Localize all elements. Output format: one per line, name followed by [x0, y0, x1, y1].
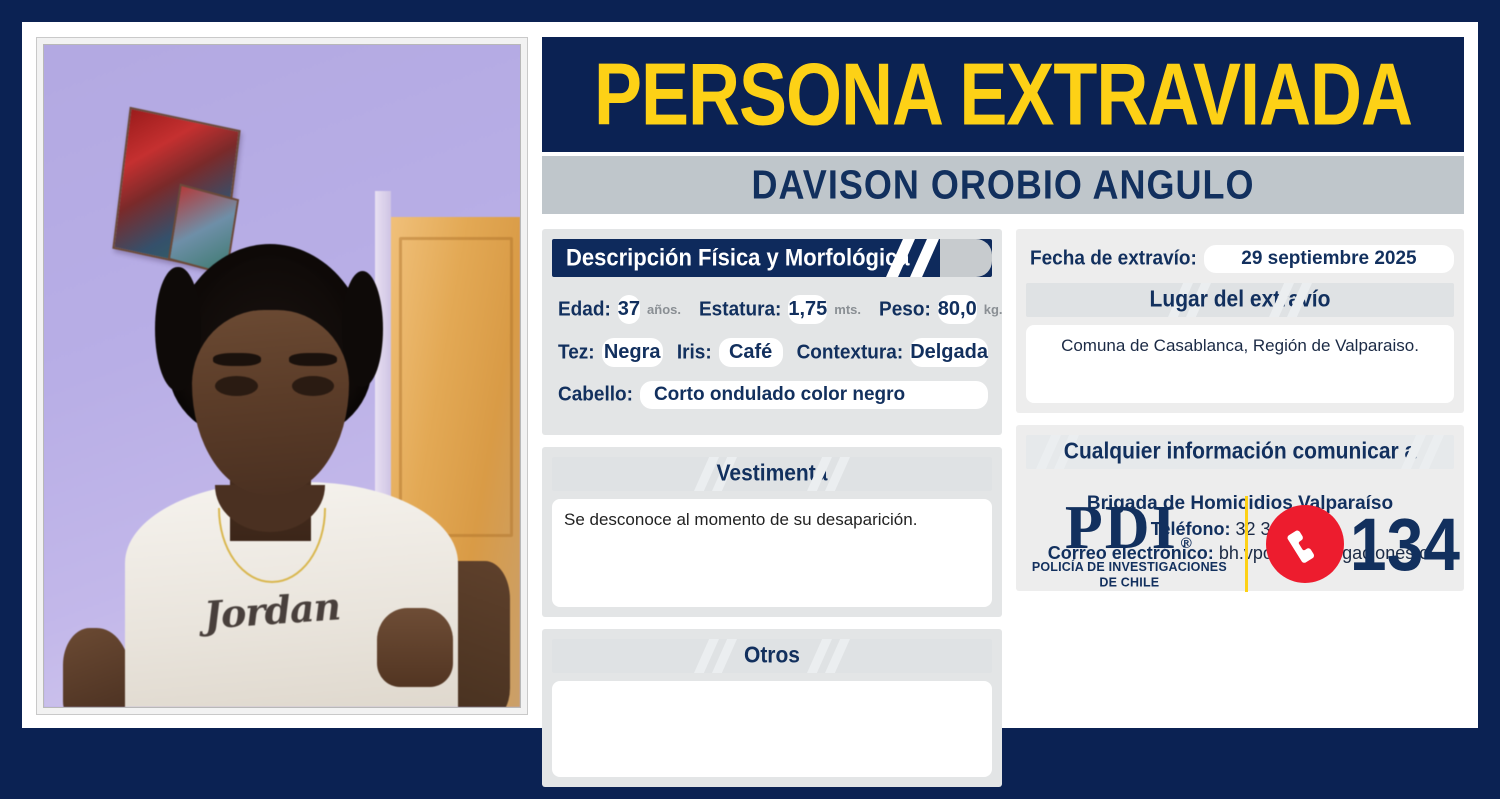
row-age-height-weight: Edad: 37 años. Estatura: 1,75 mts. Peso:… — [558, 295, 988, 324]
poster-content: PERSONA EXTRAVIADA DAVISON OROBIO ANGULO… — [542, 37, 1464, 715]
missing-person-photo: Jordan — [44, 45, 520, 707]
photo-eyebrow-right — [289, 353, 337, 366]
photo-eye-left — [215, 376, 258, 396]
edad-unit: años. — [647, 302, 681, 317]
edad-value: 37 — [618, 295, 640, 324]
physical-description-header-label: Descripción Física y Morfológica — [566, 244, 910, 273]
estatura-label: Estatura: — [699, 298, 781, 322]
vestimenta-value: Se desconoce al momento de su desaparici… — [552, 499, 992, 607]
photo-inner-border: Jordan — [43, 44, 521, 708]
registered-trademark-icon: ® — [1181, 537, 1194, 551]
physical-description-rows: Edad: 37 años. Estatura: 1,75 mts. Peso:… — [552, 277, 992, 425]
peso-unit: kg. — [984, 302, 1003, 317]
title-banner: PERSONA EXTRAVIADA — [542, 37, 1464, 152]
pdi-wordmark: PDI® — [1032, 499, 1227, 558]
otros-panel: Otros — [542, 629, 1002, 787]
physical-description-panel: Descripción Física y Morfológica Edad: 3… — [542, 229, 1002, 435]
header-cap-decor — [940, 239, 992, 277]
vestimenta-panel: Vestimenta Se desconoce al momento de su… — [542, 447, 1002, 617]
right-column: Fecha de extravío: 29 septiembre 2025 Lu… — [1016, 229, 1464, 603]
otros-header: Otros — [552, 639, 992, 673]
person-name: DAVISON OROBIO ANGULO — [751, 161, 1254, 209]
cabello-value: Corto ondulado color negro — [640, 381, 988, 409]
person-name-banner: DAVISON OROBIO ANGULO — [542, 156, 1464, 214]
iris-value: Café — [719, 338, 783, 367]
pdi-logo: PDI® POLICÍA DE INVESTIGACIONES DE CHILE — [1032, 499, 1227, 590]
peso-label: Peso: — [879, 298, 931, 322]
fecha-label: Fecha de extravío: — [1030, 247, 1197, 271]
fecha-value: 29 septiembre 2025 — [1204, 245, 1454, 273]
row-skin-iris-build: Tez: Negra Iris: Café Contextura: Delgad… — [558, 338, 988, 367]
pdi-logo-block: PDI® POLICÍA DE INVESTIGACIONES DE CHILE… — [1032, 485, 1460, 603]
photo-eyebrow-left — [213, 353, 261, 366]
cabello-label: Cabello: — [558, 383, 633, 407]
photo-frame: Jordan — [36, 37, 528, 715]
physical-description-header: Descripción Física y Morfológica — [552, 239, 992, 277]
contextura-label: Contextura: — [797, 341, 904, 365]
pdi-tagline-line1: POLICÍA DE INVESTIGACIONES — [1032, 559, 1227, 575]
photo-hand-right — [377, 608, 453, 687]
emergency-number: 134 — [1350, 502, 1460, 587]
logo-divider — [1245, 496, 1248, 592]
photo-eye-right — [292, 376, 335, 396]
contextura-value: Delgada — [910, 338, 988, 367]
missing-person-poster: Jordan PERSONA EXTRAVIADA DAVISON OROBIO… — [22, 22, 1478, 728]
edad-label: Edad: — [558, 298, 611, 322]
phone-icon — [1266, 505, 1344, 583]
pdi-tagline-line2: DE CHILE — [1032, 575, 1227, 591]
iris-label: Iris: — [677, 341, 712, 365]
otros-value — [552, 681, 992, 777]
estatura-value: 1,75 — [788, 295, 827, 324]
pdi-tagline: POLICÍA DE INVESTIGACIONES DE CHILE — [1032, 559, 1227, 591]
lugar-header: Lugar del extravío — [1026, 283, 1454, 317]
pdi-wordmark-text: PDI — [1065, 499, 1178, 558]
peso-value: 80,0 — [938, 295, 977, 324]
contacto-header: Cualquier información comunicar a — [1026, 435, 1454, 469]
contacto-header-label: Cualquier información comunicar a — [1064, 439, 1416, 465]
row-hair: Cabello: Corto ondulado color negro — [558, 381, 988, 409]
page-title: PERSONA EXTRAVIADA — [594, 44, 1412, 144]
lugar-value: Comuna de Casablanca, Región de Valparai… — [1026, 325, 1454, 403]
estatura-unit: mts. — [834, 302, 861, 317]
left-column: Descripción Física y Morfológica Edad: 3… — [542, 229, 1002, 799]
row-fecha: Fecha de extravío: 29 septiembre 2025 — [1030, 245, 1454, 273]
tez-value: Negra — [602, 338, 663, 367]
extravio-panel: Fecha de extravío: 29 septiembre 2025 Lu… — [1016, 229, 1464, 413]
vestimenta-header: Vestimenta — [552, 457, 992, 491]
tez-label: Tez: — [558, 341, 595, 365]
otros-header-label: Otros — [744, 643, 800, 669]
emergency-call-block: 134 — [1266, 505, 1460, 583]
